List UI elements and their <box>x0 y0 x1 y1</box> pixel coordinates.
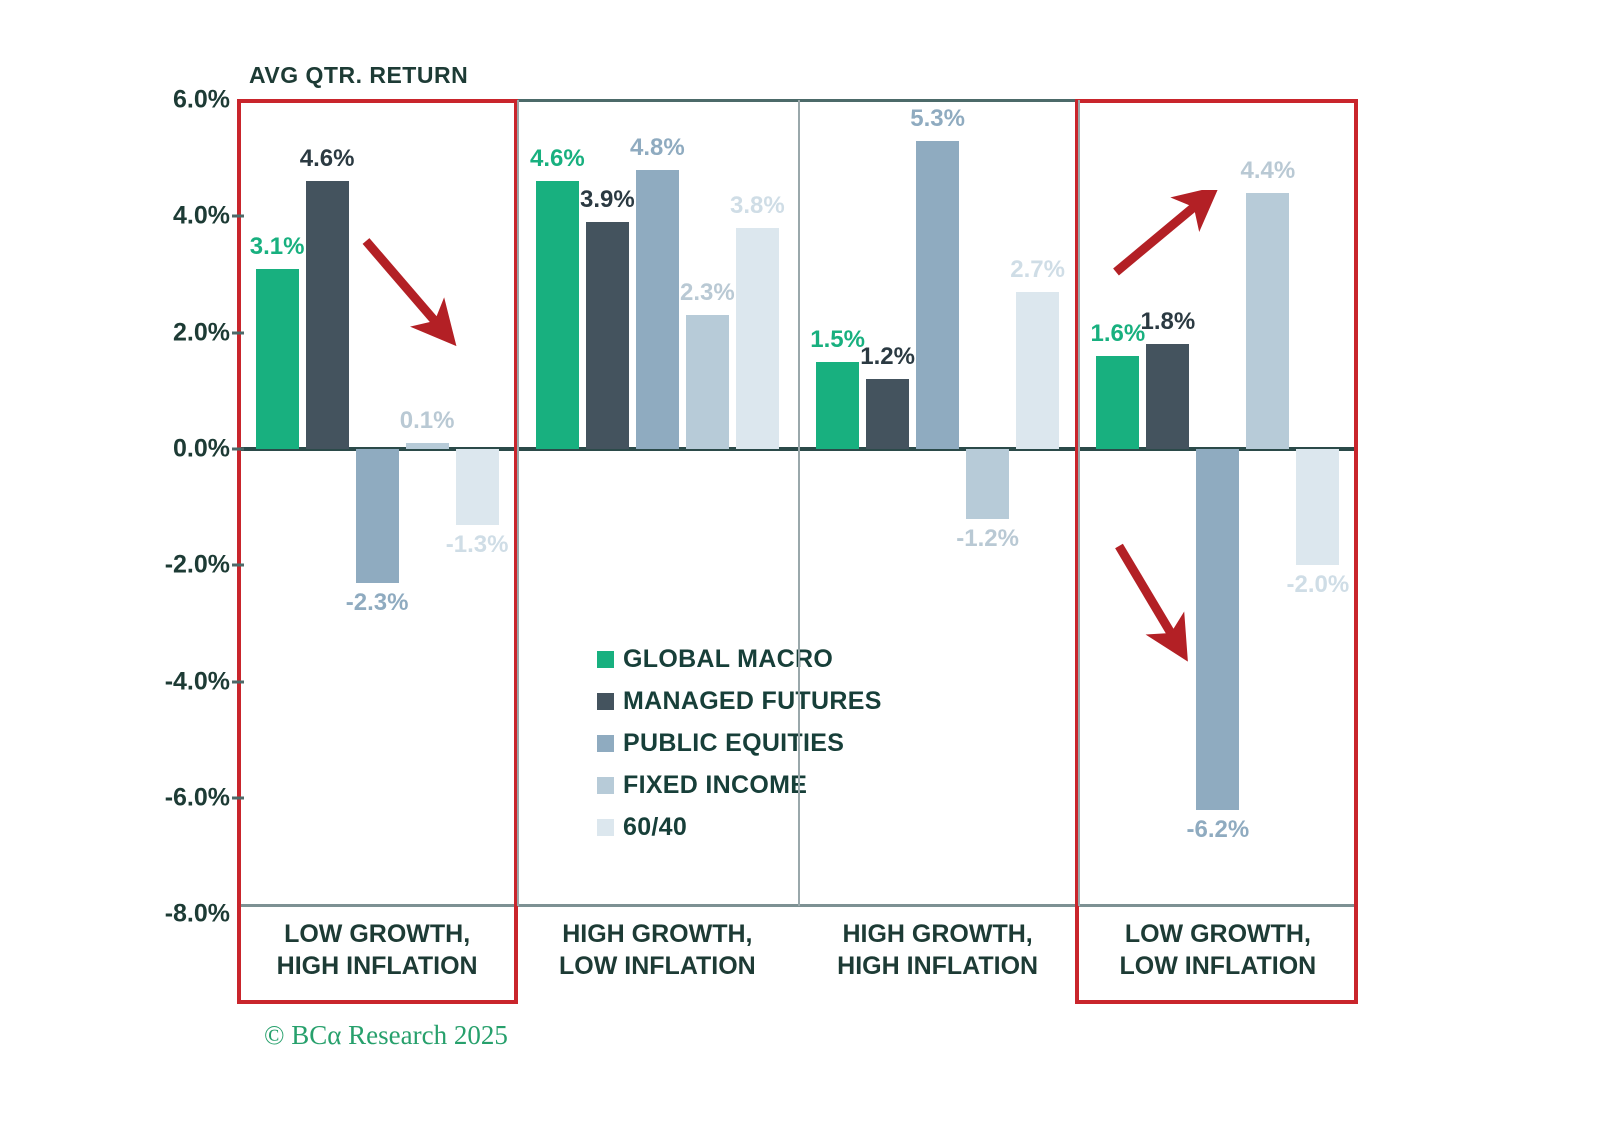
group-separator <box>798 100 800 906</box>
bar[interactable] <box>966 449 1009 519</box>
y-axis-tick-label: -6.0% <box>140 784 230 813</box>
category-label: HIGH GROWTH,HIGH INFLATION <box>837 918 1038 982</box>
category-label-line: LOW INFLATION <box>559 950 756 982</box>
y-axis-tick-mark <box>232 564 244 567</box>
bar-value-label: 1.2% <box>860 343 915 371</box>
bar-value-label: 3.8% <box>730 192 785 220</box>
y-axis-tick-label: -2.0% <box>140 551 230 580</box>
bar[interactable] <box>586 222 629 449</box>
bar[interactable] <box>1096 356 1139 449</box>
legend-swatch-icon <box>597 777 614 794</box>
bar-value-label: -6.2% <box>1187 816 1250 844</box>
bar[interactable] <box>686 315 729 449</box>
y-axis-tick-label: -4.0% <box>140 667 230 696</box>
bar-value-label: -1.2% <box>956 525 1019 553</box>
y-axis-tick-mark <box>232 797 244 800</box>
bar[interactable] <box>536 181 579 449</box>
legend-item[interactable]: MANAGED FUTURES <box>597 680 882 722</box>
bar-value-label: 5.3% <box>910 105 965 133</box>
legend: GLOBAL MACROMANAGED FUTURESPUBLIC EQUITI… <box>597 638 882 848</box>
y-axis-tick-mark <box>232 331 244 334</box>
bar[interactable] <box>256 269 299 449</box>
bar[interactable] <box>306 181 349 449</box>
y-axis-tick-mark <box>232 448 244 451</box>
legend-item[interactable]: GLOBAL MACRO <box>597 638 882 680</box>
bar-value-label: 0.1% <box>400 407 455 435</box>
bar-value-label: 4.6% <box>530 145 585 173</box>
legend-item[interactable]: 60/40 <box>597 806 882 848</box>
bar-value-label: 2.3% <box>680 279 735 307</box>
bar[interactable] <box>1246 193 1289 449</box>
chart-root: AVG QTR. RETURN 6.0%4.0%2.0%0.0%-2.0%-4.… <box>0 0 1598 1144</box>
bar[interactable] <box>1196 449 1239 810</box>
bar[interactable] <box>1146 344 1189 449</box>
y-axis-tick-label: 6.0% <box>140 86 230 115</box>
bar-value-label: 1.6% <box>1091 320 1146 348</box>
bar[interactable] <box>456 449 499 525</box>
copyright-footer: © BCα Research 2025 <box>264 1020 508 1051</box>
y-axis-tick-mark <box>232 680 244 683</box>
y-axis-tick-label: 2.0% <box>140 318 230 347</box>
axis-title: AVG QTR. RETURN <box>249 62 468 89</box>
legend-label: MANAGED FUTURES <box>623 687 882 716</box>
bar[interactable] <box>356 449 399 583</box>
y-axis-tick-label: 0.0% <box>140 435 230 464</box>
bar-value-label: 1.5% <box>810 326 865 354</box>
category-label-line: HIGH INFLATION <box>837 950 1038 982</box>
bar-value-label: -2.0% <box>1287 571 1350 599</box>
bar[interactable] <box>816 362 859 449</box>
category-label: HIGH GROWTH,LOW INFLATION <box>559 918 756 982</box>
bar[interactable] <box>1296 449 1339 565</box>
legend-item[interactable]: PUBLIC EQUITIES <box>597 722 882 764</box>
category-label-line: HIGH GROWTH, <box>559 918 756 950</box>
legend-swatch-icon <box>597 651 614 668</box>
bar-value-label: -1.3% <box>446 531 509 559</box>
group-separator <box>1078 100 1080 906</box>
legend-label: FIXED INCOME <box>623 771 807 800</box>
legend-label: 60/40 <box>623 813 687 842</box>
category-label-line: LOW GROWTH, <box>1120 918 1317 950</box>
bar[interactable] <box>406 443 449 449</box>
group-separator <box>517 100 519 906</box>
bar-value-label: 1.8% <box>1141 308 1196 336</box>
legend-label: GLOBAL MACRO <box>623 645 833 674</box>
bar[interactable] <box>1016 292 1059 449</box>
category-label: LOW GROWTH,LOW INFLATION <box>1120 918 1317 982</box>
bar[interactable] <box>636 170 679 449</box>
bar-value-label: 4.4% <box>1241 157 1296 185</box>
y-axis-tick-label: -8.0% <box>140 900 230 929</box>
bar-value-label: 3.9% <box>580 186 635 214</box>
legend-swatch-icon <box>597 819 614 836</box>
legend-item[interactable]: FIXED INCOME <box>597 764 882 806</box>
category-label: LOW GROWTH,HIGH INFLATION <box>277 918 478 982</box>
category-label-line: HIGH GROWTH, <box>837 918 1038 950</box>
category-label-line: LOW GROWTH, <box>277 918 478 950</box>
bar[interactable] <box>916 141 959 449</box>
y-axis-tick-label: 4.0% <box>140 202 230 231</box>
legend-swatch-icon <box>597 693 614 710</box>
bar-value-label: 4.8% <box>630 134 685 162</box>
bar-value-label: 4.6% <box>300 145 355 173</box>
legend-label: PUBLIC EQUITIES <box>623 729 844 758</box>
legend-swatch-icon <box>597 735 614 752</box>
bar-value-label: 2.7% <box>1010 256 1065 284</box>
bar-value-label: -2.3% <box>346 589 409 617</box>
bar[interactable] <box>736 228 779 449</box>
y-axis-tick-mark <box>232 215 244 218</box>
category-label-line: LOW INFLATION <box>1120 950 1317 982</box>
category-label-line: HIGH INFLATION <box>277 950 478 982</box>
y-axis: 6.0%4.0%2.0%0.0%-2.0%-4.0%-6.0%-8.0% <box>138 0 230 1144</box>
bar-value-label: 3.1% <box>250 233 305 261</box>
bar[interactable] <box>866 379 909 449</box>
